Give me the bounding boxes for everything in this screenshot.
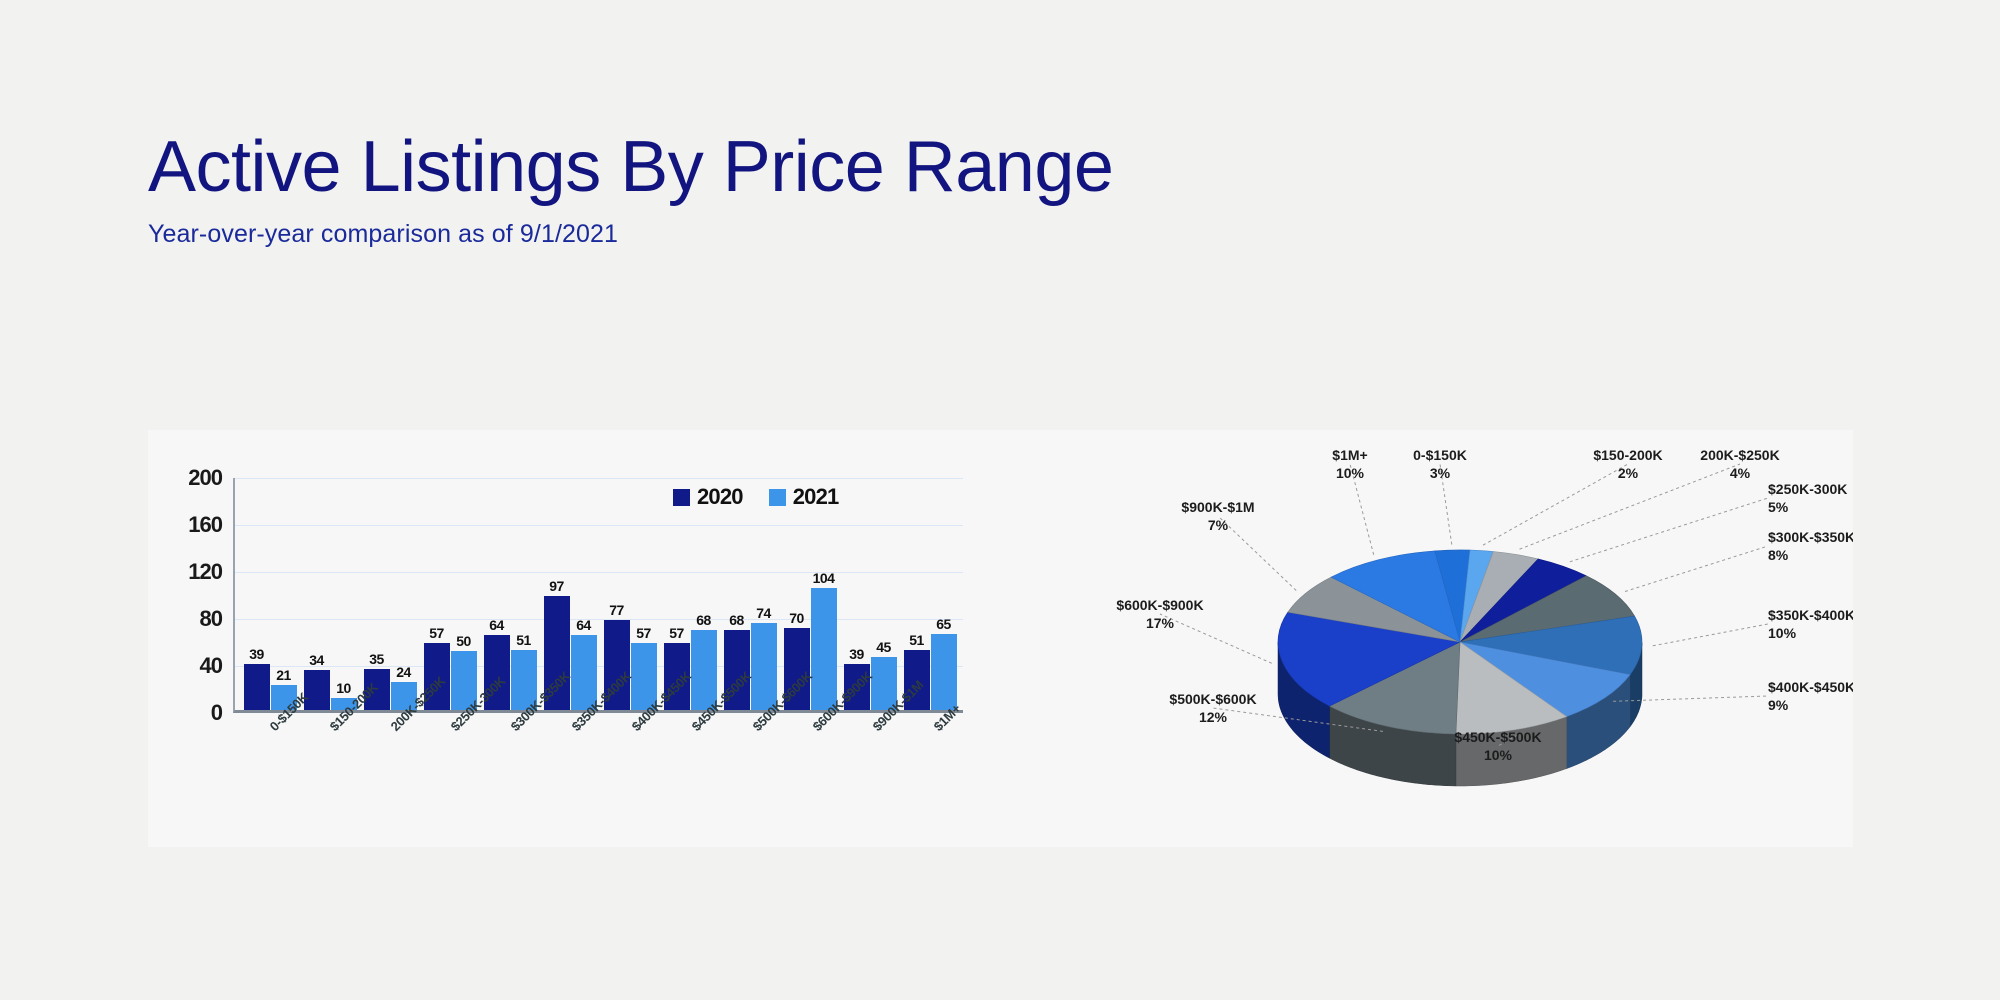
x-axis-label-slot: $250K-300K <box>419 716 479 826</box>
bar-2021[interactable]: 57 <box>631 478 657 710</box>
pie-label-percent: 12% <box>1199 709 1228 725</box>
bar-value-label: 70 <box>789 611 804 625</box>
pie-label-name: $600K-$900K <box>1116 597 1203 613</box>
pie-chart-svg: 0-$150K3%$150-200K2%200K-$250K4%$250K-30… <box>1068 430 1853 847</box>
legend-label: 2020 <box>697 484 743 510</box>
pie-label-percent: 2% <box>1618 465 1639 481</box>
bar-2021[interactable]: 50 <box>451 478 477 710</box>
bar-group: 3410 <box>300 478 360 710</box>
x-axis-label-slot: $500K-$600K <box>721 716 781 826</box>
pie-label-percent: 10% <box>1484 747 1513 763</box>
pie-label-name: $400K-$450K <box>1768 679 1853 695</box>
pie-label-name: $350K-$400K <box>1768 607 1853 623</box>
pie-label-percent: 7% <box>1208 517 1229 533</box>
pie-label-name: $150-200K <box>1593 447 1662 463</box>
bar-value-label: 51 <box>909 633 924 647</box>
title-block: Active Listings By Price Range Year-over… <box>148 130 1113 249</box>
bar-2020[interactable]: 51 <box>904 478 930 710</box>
pie-label-name: $300K-$350K <box>1768 529 1853 545</box>
bar-chart-y-axis: 20016012080400 <box>158 478 228 713</box>
page-title: Active Listings By Price Range <box>148 130 1113 206</box>
legend-label: 2021 <box>793 484 839 510</box>
legend-swatch-icon <box>769 489 786 506</box>
bar-value-label: 65 <box>936 617 951 631</box>
bar-group: 3524 <box>360 478 420 710</box>
pie-leader-line <box>1483 464 1628 545</box>
bar-value-label: 64 <box>576 618 591 632</box>
pie-chart: 0-$150K3%$150-200K2%200K-$250K4%$250K-30… <box>1068 430 1853 847</box>
bar-value-label: 34 <box>309 653 324 667</box>
bar-value-label: 64 <box>489 618 504 632</box>
bar-rect[interactable] <box>244 664 270 710</box>
bar-value-label: 57 <box>429 626 444 640</box>
pie-leader-line <box>1570 498 1768 562</box>
legend-item-2021[interactable]: 2021 <box>769 484 839 510</box>
bar-group: 5165 <box>900 478 960 710</box>
pie-label-percent: 3% <box>1430 465 1451 481</box>
pie-label-name: $1M+ <box>1332 447 1367 463</box>
pie-label-name: 200K-$250K <box>1700 447 1779 463</box>
y-axis-tick: 40 <box>200 653 222 679</box>
bar-2021[interactable]: 21 <box>271 478 297 710</box>
bar-2021[interactable]: 74 <box>751 478 777 710</box>
x-axis-label-slot: $600K-$900K <box>781 716 841 826</box>
pie-leader-line <box>1653 624 1768 646</box>
x-axis-label-slot: $350K-$400K <box>540 716 600 826</box>
bar-value-label: 68 <box>696 613 711 627</box>
x-axis-label-slot: $1M+ <box>902 716 962 826</box>
chart-panel: 20016012080400 3921341035245750645197647… <box>148 430 1853 847</box>
y-axis-tick: 200 <box>188 465 222 491</box>
pie-label-percent: 10% <box>1768 625 1797 641</box>
bar-value-label: 51 <box>516 633 531 647</box>
bar-value-label: 74 <box>756 606 771 620</box>
x-axis-label-slot: $450K-$500K <box>660 716 720 826</box>
bar-value-label: 24 <box>396 665 411 679</box>
bar-value-label: 39 <box>849 647 864 661</box>
bar-chart-legend: 20202021 <box>673 484 839 510</box>
pie-leader-line <box>1218 516 1296 591</box>
bar-group: 5750 <box>420 478 480 710</box>
bar-2021[interactable]: 10 <box>331 478 357 710</box>
legend-item-2020[interactable]: 2020 <box>673 484 743 510</box>
bar-2021[interactable]: 51 <box>511 478 537 710</box>
pie-chart-stage: 0-$150K3%$150-200K2%200K-$250K4%$250K-30… <box>1068 430 1853 847</box>
pie-label-percent: 4% <box>1730 465 1751 481</box>
y-axis-tick: 80 <box>200 606 222 632</box>
x-axis-label-slot: $900K-$1M <box>841 716 901 826</box>
pie-label-name: $250K-300K <box>1768 481 1847 497</box>
pie-label-percent: 17% <box>1146 615 1175 631</box>
pie-label-name: $450K-$500K <box>1454 729 1541 745</box>
pie-slice-tops <box>1278 550 1642 734</box>
slide-canvas: Active Listings By Price Range Year-over… <box>0 0 2000 1000</box>
bar-2021[interactable]: 104 <box>811 478 837 710</box>
bar-value-label: 45 <box>876 640 891 654</box>
bar-2021[interactable]: 24 <box>391 478 417 710</box>
pie-label-name: $900K-$1M <box>1181 499 1254 515</box>
bar-value-label: 39 <box>249 647 264 661</box>
page-subtitle: Year-over-year comparison as of 9/1/2021 <box>148 220 1113 249</box>
bar-value-label: 57 <box>636 626 651 640</box>
bar-value-label: 50 <box>456 634 471 648</box>
x-axis-label-slot: $150-200K <box>298 716 358 826</box>
legend-swatch-icon <box>673 489 690 506</box>
bar-rect[interactable] <box>931 634 957 710</box>
y-axis-tick: 160 <box>188 512 222 538</box>
bar-2020[interactable]: 39 <box>244 478 270 710</box>
bar-chart-x-axis-labels: 0-$150K$150-200K200K-$250K$250K-300K$300… <box>235 716 965 826</box>
bar-2021[interactable]: 68 <box>691 478 717 710</box>
bar-2020[interactable]: 35 <box>364 478 390 710</box>
bar-rect[interactable] <box>304 670 330 710</box>
bar-value-label: 35 <box>369 652 384 666</box>
x-axis-label-slot: $400K-$450K <box>600 716 660 826</box>
bar-value-label: 21 <box>276 668 291 682</box>
bar-group: 6451 <box>480 478 540 710</box>
bar-value-label: 10 <box>336 681 351 695</box>
bar-value-label: 68 <box>729 613 744 627</box>
bar-value-label: 77 <box>609 603 624 617</box>
bar-value-label: 57 <box>669 626 684 640</box>
pie-label-percent: 5% <box>1768 499 1789 515</box>
bar-group: 3921 <box>240 478 300 710</box>
bar-2021[interactable]: 64 <box>571 478 597 710</box>
x-axis-label-slot: 200K-$250K <box>359 716 419 826</box>
bar-rect[interactable] <box>751 623 777 710</box>
x-axis-label-slot: 0-$150K <box>238 716 298 826</box>
pie-label-name: $500K-$600K <box>1169 691 1256 707</box>
y-axis-tick: 120 <box>188 559 222 585</box>
y-axis-tick: 0 <box>211 700 222 726</box>
bar-groups: 3921341035245750645197647757576868747010… <box>237 478 963 710</box>
pie-leader-line <box>1625 546 1768 592</box>
pie-label-name: 0-$150K <box>1413 447 1467 463</box>
bar-chart: 20016012080400 3921341035245750645197647… <box>158 438 1068 838</box>
bar-2020[interactable]: 34 <box>304 478 330 710</box>
bar-value-label: 104 <box>813 571 835 585</box>
pie-leader-line <box>1160 614 1272 663</box>
bar-2021[interactable]: 65 <box>931 478 957 710</box>
bar-2021[interactable]: 45 <box>871 478 897 710</box>
pie-label-percent: 8% <box>1768 547 1789 563</box>
bar-rect[interactable] <box>811 588 837 710</box>
bar-value-label: 97 <box>549 579 564 593</box>
pie-label-percent: 10% <box>1336 465 1365 481</box>
x-axis-label-slot: $300K-$350K <box>479 716 539 826</box>
pie-label-percent: 9% <box>1768 697 1789 713</box>
